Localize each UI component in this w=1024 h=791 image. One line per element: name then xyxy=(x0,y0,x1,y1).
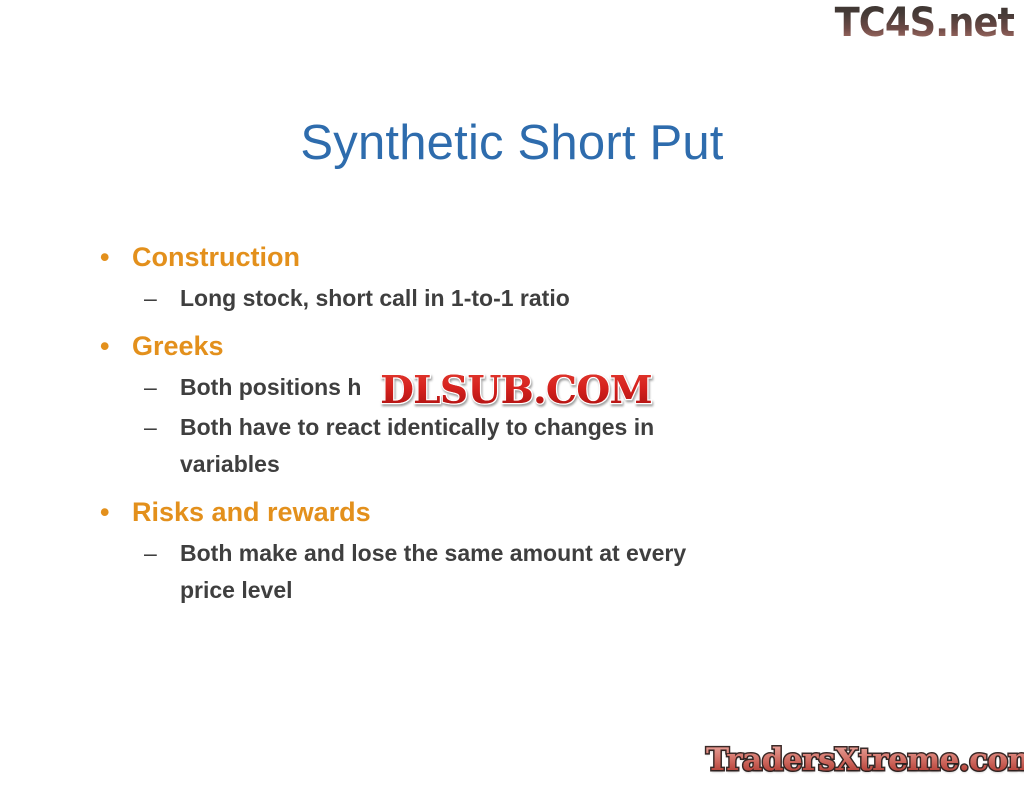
slide-title: Synthetic Short Put xyxy=(0,112,1024,174)
bullet-group-construction: • Construction – Long stock, short call … xyxy=(92,238,772,317)
sub-bullet-greeks-2-text: Both have to react identically to change… xyxy=(180,409,740,483)
dlsub-watermark-text: DLSUB.COM xyxy=(368,369,664,411)
dash-marker-icon: – xyxy=(144,369,157,406)
dash-marker-icon: – xyxy=(144,280,157,317)
bullet-construction-label: Construction xyxy=(132,242,300,272)
tc4s-logo-text: TC4S.net xyxy=(834,0,1014,46)
footer-logo-text: TradersXtreme.com xyxy=(706,741,1024,779)
bullet-dot-icon: • xyxy=(100,327,109,365)
bullet-greeks-label: Greeks xyxy=(132,331,224,361)
bullet-dot-icon: • xyxy=(100,493,109,531)
bullet-group-risks: • Risks and rewards – Both make and lose… xyxy=(92,493,772,609)
bullet-greeks: • Greeks xyxy=(92,327,772,365)
tradersxtreme-footer-logo: TradersXtreme.com TradersXtreme.com xyxy=(706,741,1018,781)
slide-body: • Construction – Long stock, short call … xyxy=(92,238,772,617)
bullet-risks-and-rewards-label: Risks and rewards xyxy=(132,497,371,527)
footer-logo-wrap: TradersXtreme.com TradersXtreme.com xyxy=(706,741,1024,781)
sub-bullet-risks-1: – Both make and lose the same amount at … xyxy=(92,535,772,609)
sub-bullet-construction-1-text: Long stock, short call in 1-to-1 ratio xyxy=(180,280,740,317)
tc4s-brand-logo: TC4S.net xyxy=(0,0,1024,52)
bullet-construction: • Construction xyxy=(92,238,772,276)
dash-marker-icon: – xyxy=(144,535,157,572)
sub-bullet-construction-1: – Long stock, short call in 1-to-1 ratio xyxy=(92,280,772,317)
dlsub-watermark: DLSUB.COM DLSUB.COM xyxy=(368,369,664,411)
sub-bullet-greeks-2: – Both have to react identically to chan… xyxy=(92,409,772,483)
bullet-dot-icon: • xyxy=(100,238,109,276)
bullet-risks-and-rewards: • Risks and rewards xyxy=(92,493,772,531)
dash-marker-icon: – xyxy=(144,409,157,446)
presentation-slide: TC4S.net Synthetic Short Put • Construct… xyxy=(0,0,1024,791)
sub-bullet-risks-1-text: Both make and lose the same amount at ev… xyxy=(180,535,740,609)
